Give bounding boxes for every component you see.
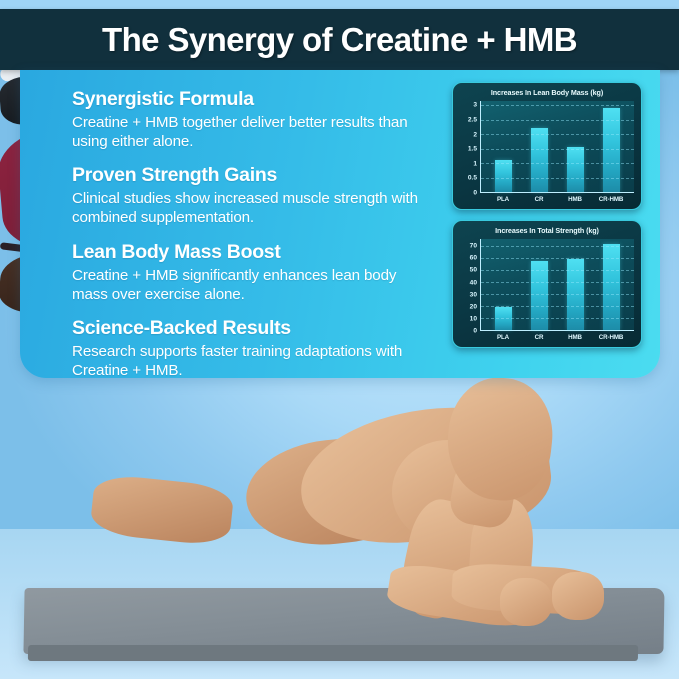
feature-body: Clinical studies show increased muscle s…: [72, 189, 422, 228]
y-axis: 00.511.522.53: [460, 101, 480, 193]
charts-column: Increases In Lean Body Mass (kg) 00.511.…: [452, 82, 642, 358]
chart-lean-body-mass: Increases In Lean Body Mass (kg) 00.511.…: [452, 82, 642, 210]
feature-item: Synergistic Formula Creatine + HMB toget…: [72, 88, 422, 151]
feature-heading: Science-Backed Results: [72, 317, 422, 341]
y-tick-label: 0: [473, 190, 477, 197]
chart-total-strength: Increases In Total Strength (kg) 0102030…: [452, 220, 642, 348]
feature-heading: Lean Body Mass Boost: [72, 241, 422, 265]
chart-title: Increases In Total Strength (kg): [460, 226, 634, 235]
chart-plot-area: 00.511.522.53: [460, 101, 634, 193]
x-tick-label: HMB: [561, 334, 589, 341]
x-tick-label: CR: [525, 334, 553, 341]
plot: [480, 239, 634, 331]
gridline: [481, 163, 634, 164]
feature-item: Lean Body Mass Boost Creatine + HMB sign…: [72, 241, 422, 304]
feature-item: Science-Backed Results Research supports…: [72, 317, 422, 378]
chart-title: Increases In Lean Body Mass (kg): [460, 88, 634, 97]
x-tick-label: CR: [525, 196, 553, 203]
gridline: [481, 270, 634, 271]
bar: [495, 160, 512, 192]
y-tick-label: 0.5: [468, 175, 477, 182]
y-tick-label: 0: [473, 328, 477, 335]
x-tick-label: CR-HMB: [597, 196, 625, 203]
feature-body: Creatine + HMB significantly enhances le…: [72, 266, 422, 305]
y-tick-label: 2: [473, 131, 477, 138]
x-tick-label: PLA: [489, 334, 517, 341]
x-tick-label: PLA: [489, 196, 517, 203]
feature-item: Proven Strength Gains Clinical studies s…: [72, 164, 422, 227]
y-tick-label: 1.5: [468, 146, 477, 153]
feature-heading: Proven Strength Gains: [72, 164, 422, 188]
gridline: [481, 120, 634, 121]
y-axis: 010203040506070: [460, 239, 480, 331]
y-tick-label: 2.5: [468, 116, 477, 123]
gridline: [481, 178, 634, 179]
bar-group: [481, 239, 634, 330]
feature-list: Synergistic Formula Creatine + HMB toget…: [72, 88, 422, 378]
gridline: [481, 105, 634, 106]
y-tick-label: 1: [473, 160, 477, 167]
info-panel: Synergistic Formula Creatine + HMB toget…: [20, 70, 660, 378]
top-strip: [0, 0, 679, 9]
x-axis: PLACRHMBCR-HMB: [480, 193, 634, 203]
feature-heading: Synergistic Formula: [72, 88, 422, 112]
y-tick-label: 3: [473, 102, 477, 109]
y-tick-label: 70: [470, 243, 477, 250]
gridline: [481, 246, 634, 247]
gridline: [481, 134, 634, 135]
plot: [480, 101, 634, 193]
bar: [603, 108, 620, 192]
y-tick-label: 20: [470, 303, 477, 310]
athlete-fist-right: [552, 572, 604, 620]
y-tick-label: 50: [470, 267, 477, 274]
gridline: [481, 306, 634, 307]
bar: [531, 128, 548, 192]
bar: [567, 147, 584, 192]
gridline: [481, 258, 634, 259]
gridline: [481, 294, 634, 295]
page-title: The Synergy of Creatine + HMB: [102, 21, 577, 59]
gridline: [481, 149, 634, 150]
x-axis: PLACRHMBCR-HMB: [480, 331, 634, 341]
exercise-mat-edge: [28, 645, 638, 661]
y-tick-label: 60: [470, 255, 477, 262]
gridline: [481, 282, 634, 283]
y-tick-label: 30: [470, 291, 477, 298]
feature-body: Creatine + HMB together deliver better r…: [72, 113, 422, 152]
y-tick-label: 10: [470, 315, 477, 322]
feature-body: Research supports faster training adapta…: [72, 342, 422, 378]
header-bar: The Synergy of Creatine + HMB: [0, 9, 679, 70]
y-tick-label: 40: [470, 279, 477, 286]
gridline: [481, 318, 634, 319]
x-tick-label: CR-HMB: [597, 334, 625, 341]
x-tick-label: HMB: [561, 196, 589, 203]
chart-plot-area: 010203040506070: [460, 239, 634, 331]
athlete-fist-left: [500, 578, 552, 626]
